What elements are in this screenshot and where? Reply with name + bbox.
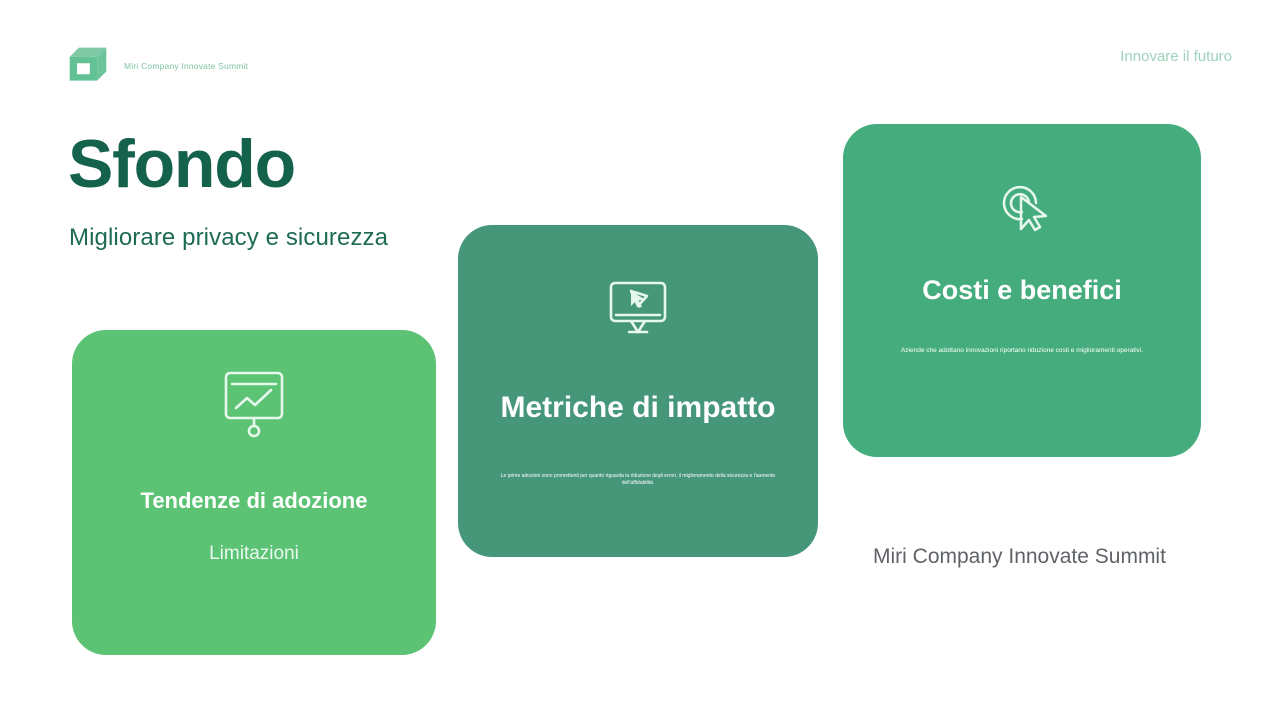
cube-box-logo-icon bbox=[66, 44, 110, 88]
card-title: Tendenze di adozione bbox=[141, 488, 368, 514]
click-cursor-icon bbox=[991, 172, 1053, 239]
slide-canvas: Miri Company Innovate Summit Innovare il… bbox=[0, 0, 1280, 720]
card-title: Metriche di impatto bbox=[500, 391, 775, 425]
card-tendenze-di-adozione[interactable]: Tendenze di adozione Limitazioni bbox=[72, 330, 436, 655]
page-subtitle: Migliorare privacy e sicurezza bbox=[69, 224, 388, 252]
brand-name: Miri Company Innovate Summit bbox=[124, 61, 248, 71]
page-title: Sfondo bbox=[68, 130, 295, 198]
card-title: Costi e benefici bbox=[922, 275, 1122, 306]
card-metriche-di-impatto[interactable]: Metriche di impatto Le prime adozioni so… bbox=[458, 225, 818, 557]
footer-caption: Miri Company Innovate Summit bbox=[873, 545, 1166, 569]
card-subtitle: Limitazioni bbox=[209, 543, 299, 565]
header-tagline: Innovare il futuro bbox=[1120, 48, 1232, 65]
presentation-chart-icon bbox=[221, 368, 287, 445]
brand-lockup: Miri Company Innovate Summit bbox=[66, 44, 248, 88]
desktop-monitor-cursor-icon bbox=[607, 280, 669, 343]
card-costi-e-benefici[interactable]: Costi e benefici Aziende che adottano in… bbox=[843, 124, 1201, 457]
card-body-text: Le prime adozioni sono promettenti per q… bbox=[488, 473, 788, 487]
card-body-text: Aziende che adottano innovazioni riporta… bbox=[862, 347, 1182, 356]
